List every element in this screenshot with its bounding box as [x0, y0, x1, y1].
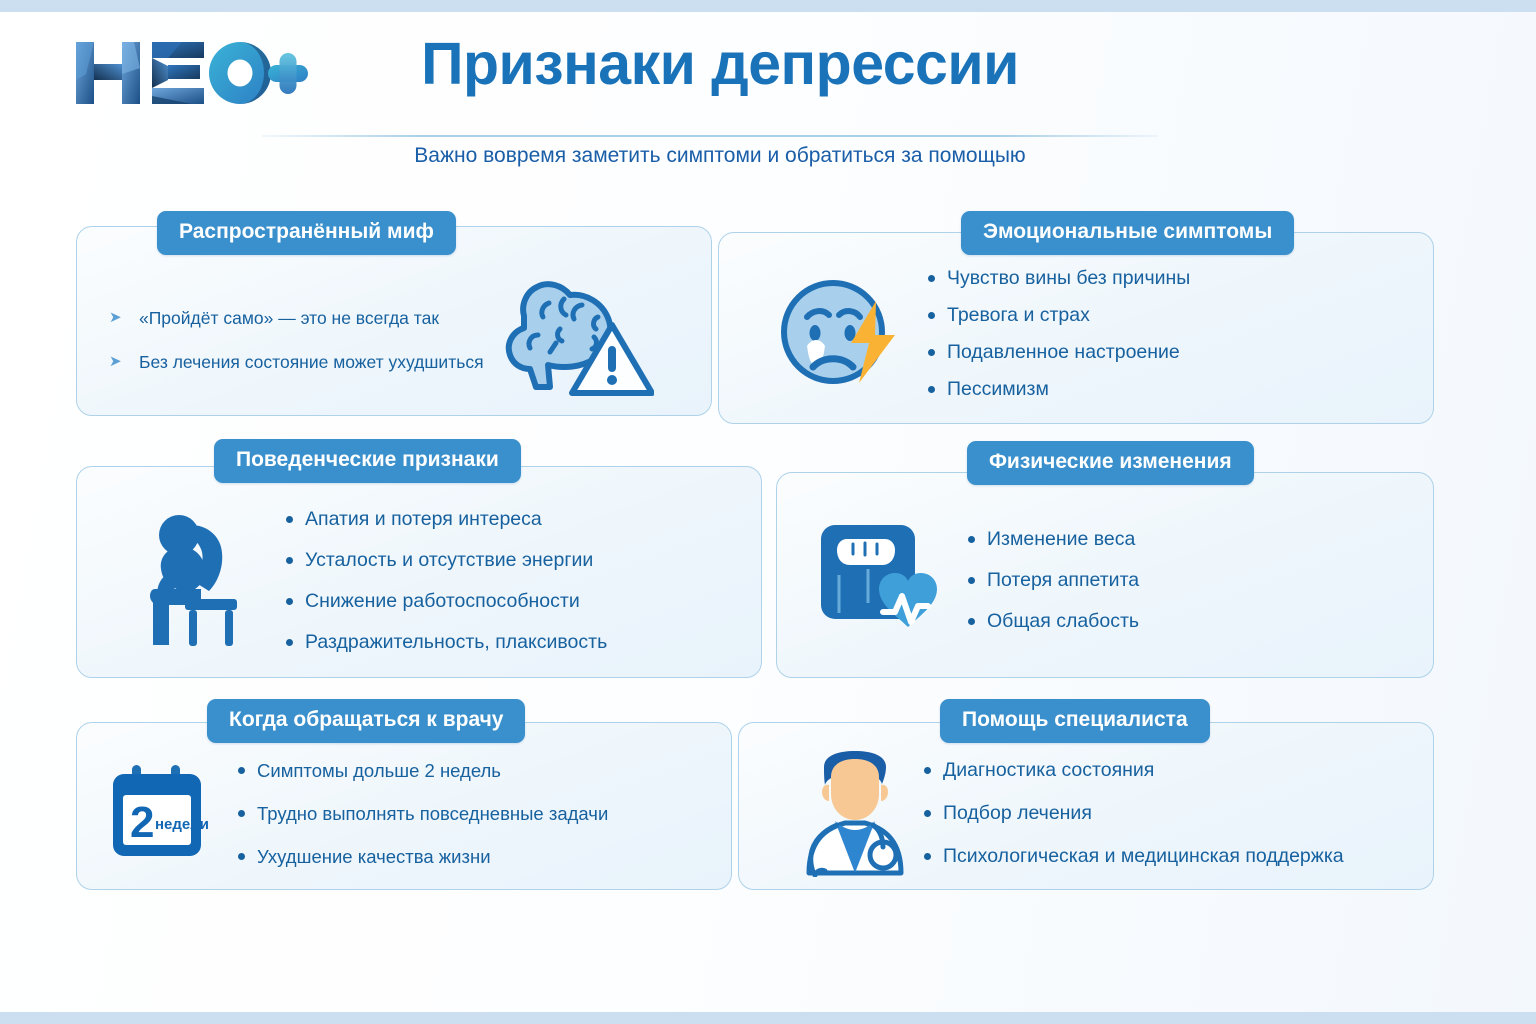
list-item: Потеря аппетита — [963, 560, 1139, 601]
card-badge-behavioral: Поведенческие признаки — [214, 439, 521, 483]
list-item: Психологическая и медицинская поддержка — [919, 835, 1344, 878]
card-when-to-see-doctor: 2 недели Симптомы дольше 2 недель Трудно… — [76, 722, 732, 890]
list-item: Подбор лечения — [919, 792, 1344, 835]
behavioral-list: Апатия и потеря интереса Усталость и отс… — [281, 499, 607, 663]
list-item: Ухудшение качества жизни — [233, 835, 608, 878]
sad-face-lightning-icon — [777, 271, 905, 397]
doctor-icon — [779, 749, 911, 877]
sitting-person-icon — [143, 511, 259, 651]
calendar-two-weeks-icon: 2 недели — [105, 761, 215, 865]
header-divider — [262, 135, 1158, 137]
weight-scale-heart-icon — [817, 519, 943, 641]
bottom-accent-band — [0, 1012, 1536, 1024]
list-item: Пессимизм — [923, 371, 1190, 408]
list-item: Усталость и отсутствие энергии — [281, 540, 607, 581]
neo-plus-logo — [72, 34, 312, 112]
list-item: Тревога и страх — [923, 297, 1190, 334]
list-item: Чувство вины без причины — [923, 260, 1190, 297]
card-badge-emotional: Эмоциональные симптомы — [961, 211, 1294, 255]
card-badge-physical: Физические изменения — [967, 441, 1254, 485]
card-badge-specialist-help: Помощь специалиста — [940, 699, 1210, 743]
specialist-help-list: Диагностика состояния Подбор лечения Пси… — [919, 749, 1344, 878]
header: Признаки депрессии Важно вовремя заметит… — [0, 12, 1536, 172]
card-badge-when-to-see-doctor: Когда обращаться к врачу — [207, 699, 525, 743]
list-item: Снижение работоспособности — [281, 581, 607, 622]
card-emotional: Чувство вины без причины Тревога и страх… — [718, 232, 1434, 424]
page-title: Признаки депрессии — [370, 34, 1070, 96]
list-item: Общая слабость — [963, 601, 1139, 642]
calendar-unit: недели — [155, 816, 209, 833]
page-subtitle: Важно вовремя заметить симптоми и обрати… — [370, 144, 1070, 168]
list-item: Симптомы дольше 2 недель — [233, 749, 608, 792]
list-item: Изменение веса — [963, 519, 1139, 560]
card-myth: «Пройдёт само» — это не всегда так Без л… — [76, 226, 712, 416]
list-item: Без лечения состояние может ухудшиться — [109, 340, 484, 384]
list-item: Диагностика состояния — [919, 749, 1344, 792]
list-item: Трудно выполнять повседневные задачи — [233, 792, 608, 835]
card-badge-myth: Распространённый миф — [157, 211, 456, 255]
card-physical: Изменение веса Потеря аппетита Общая сла… — [776, 472, 1434, 678]
list-item: «Пройдёт само» — это не всегда так — [109, 296, 484, 340]
infographic-page: Признаки депрессии Важно вовремя заметит… — [0, 0, 1536, 1024]
card-behavioral: Апатия и потеря интереса Усталость и отс… — [76, 466, 762, 678]
calendar-number: 2 — [130, 798, 154, 847]
physical-list: Изменение веса Потеря аппетита Общая сла… — [963, 519, 1139, 642]
when-to-see-doctor-list: Симптомы дольше 2 недель Трудно выполнят… — [233, 749, 608, 878]
list-item: Апатия и потеря интереса — [281, 499, 607, 540]
myth-list: «Пройдёт само» — это не всегда так Без л… — [109, 296, 484, 384]
list-item: Раздражительность, плаксивость — [281, 622, 607, 663]
top-accent-band — [0, 0, 1536, 12]
emotional-list: Чувство вины без причины Тревога и страх… — [923, 260, 1190, 408]
brain-warning-icon — [494, 273, 654, 405]
card-specialist-help: Диагностика состояния Подбор лечения Пси… — [738, 722, 1434, 890]
list-item: Подавленное настроение — [923, 334, 1190, 371]
